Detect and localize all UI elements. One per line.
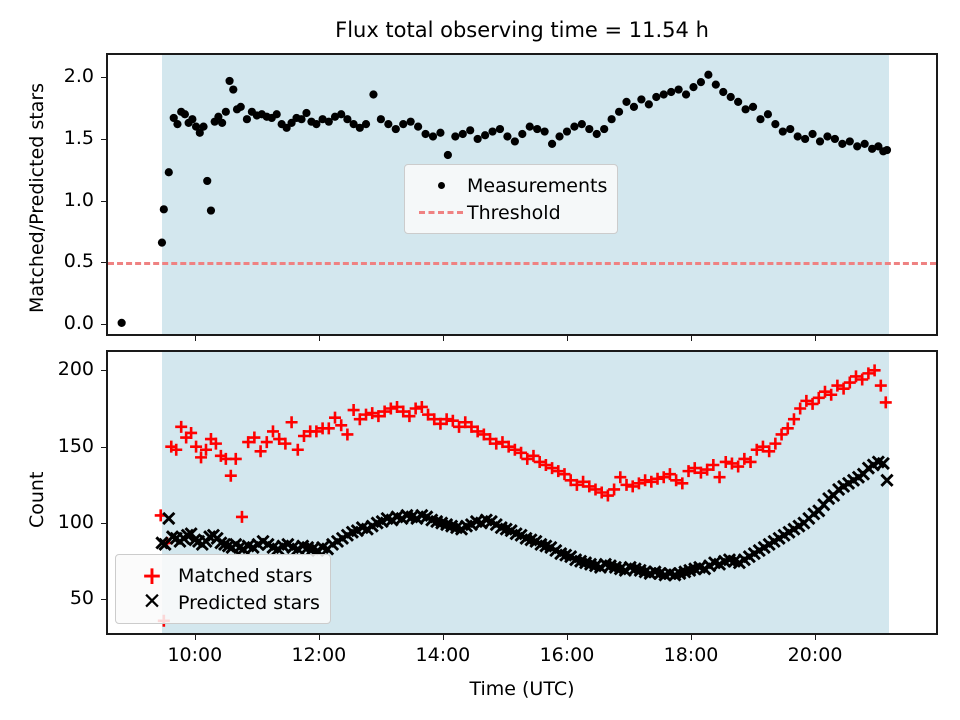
y-tick-mark <box>101 523 106 524</box>
y-tick-mark <box>101 139 106 140</box>
x-tick-mark <box>443 635 444 640</box>
x-tick-mark <box>567 336 568 341</box>
x-tick-mark <box>443 336 444 341</box>
x-tick-label: 18:00 <box>631 644 751 666</box>
x-axis-label: Time (UTC) <box>106 678 938 700</box>
legend-label-predicted-stars: Predicted stars <box>178 592 320 614</box>
x-tick-mark <box>691 635 692 640</box>
top-panel-legend: Measurements Threshold <box>404 164 618 234</box>
top-panel-y-axis-label: Matched/Predicted stars <box>26 82 48 312</box>
x-tick-mark <box>567 635 568 640</box>
x-tick-mark <box>319 635 320 640</box>
x-tick-label: 10:00 <box>135 644 255 666</box>
legend-item-matched-stars: + Matched stars <box>126 562 320 589</box>
y-tick-label: 200 <box>16 358 94 380</box>
x-tick-mark <box>319 336 320 341</box>
y-tick-mark <box>101 324 106 325</box>
y-tick-label: 0.0 <box>16 312 94 334</box>
measurements-marker-icon <box>415 182 467 189</box>
x-tick-label: 20:00 <box>755 644 875 666</box>
x-tick-mark <box>815 336 816 341</box>
y-tick-mark <box>101 599 106 600</box>
legend-item-threshold: Threshold <box>415 199 607 226</box>
x-tick-mark <box>195 336 196 341</box>
predicted-stars-cross-icon: ✕ <box>126 591 178 614</box>
legend-item-predicted-stars: ✕ Predicted stars <box>126 589 320 616</box>
y-tick-mark <box>101 262 106 263</box>
y-tick-mark <box>101 447 106 448</box>
y-tick-label: 150 <box>16 435 94 457</box>
legend-label-threshold: Threshold <box>467 202 561 224</box>
legend-label-matched-stars: Matched stars <box>178 565 312 587</box>
matched-stars-plus-icon: + <box>126 563 178 588</box>
y-tick-mark <box>101 77 106 78</box>
threshold-dash-icon <box>415 211 467 214</box>
y-tick-mark <box>101 201 106 202</box>
x-tick-label: 12:00 <box>259 644 379 666</box>
x-tick-label: 14:00 <box>383 644 503 666</box>
x-tick-mark <box>195 635 196 640</box>
y-tick-label: 50 <box>16 587 94 609</box>
x-tick-mark <box>691 336 692 341</box>
legend-label-measurements: Measurements <box>467 175 607 197</box>
x-tick-mark <box>815 635 816 640</box>
x-tick-label: 16:00 <box>507 644 627 666</box>
bottom-panel-legend: + Matched stars ✕ Predicted stars <box>115 554 331 624</box>
legend-item-measurements: Measurements <box>415 172 607 199</box>
figure-title: Flux total observing time = 11.54 h <box>106 18 938 42</box>
bottom-panel-y-axis-label: Count <box>26 471 48 527</box>
figure-canvas: Flux total observing time = 11.54 h 0.00… <box>0 0 960 720</box>
y-tick-mark <box>101 370 106 371</box>
